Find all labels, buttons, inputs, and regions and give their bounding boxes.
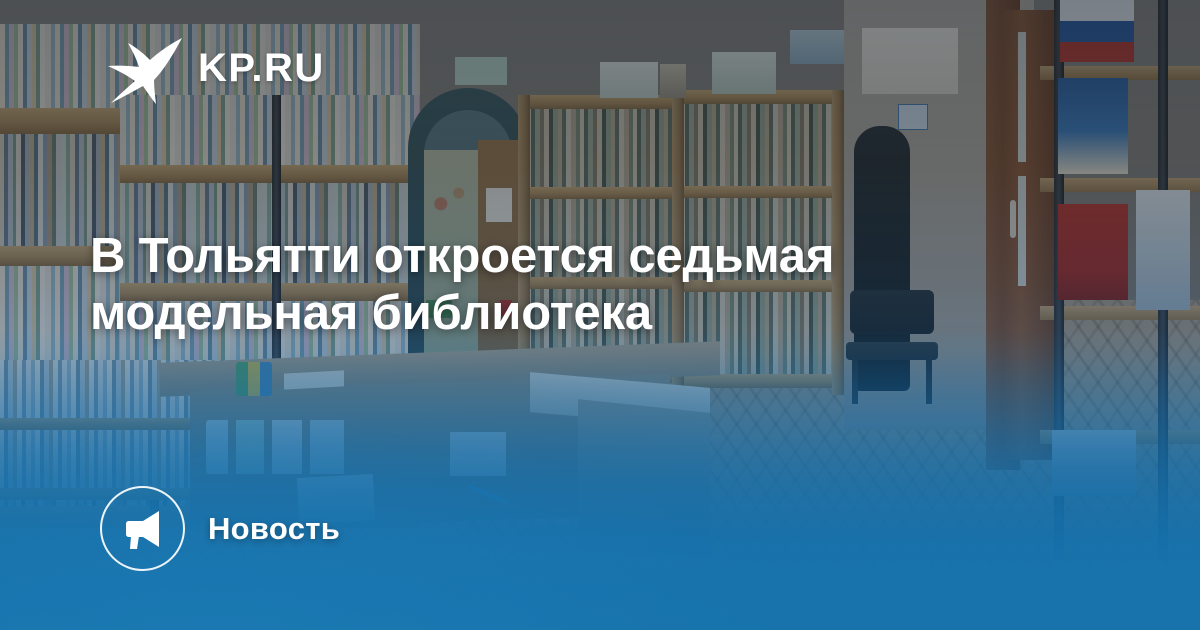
swallow-bird-icon (104, 32, 184, 104)
megaphone-badge-ring (100, 486, 185, 571)
status-badge[interactable]: Новость (100, 486, 340, 571)
news-card: KP.RU В Тольятти откроется седьмая модел… (0, 0, 1200, 630)
page-title: В Тольятти откроется седьмая модельная б… (90, 228, 1030, 343)
brand-wordmark: KP.RU (198, 48, 325, 88)
megaphone-icon (121, 507, 165, 551)
overlay-ui: KP.RU В Тольятти откроется седьмая модел… (0, 0, 1200, 630)
status-badge-label: Новость (208, 511, 340, 547)
brand-logo[interactable]: KP.RU (104, 32, 325, 104)
